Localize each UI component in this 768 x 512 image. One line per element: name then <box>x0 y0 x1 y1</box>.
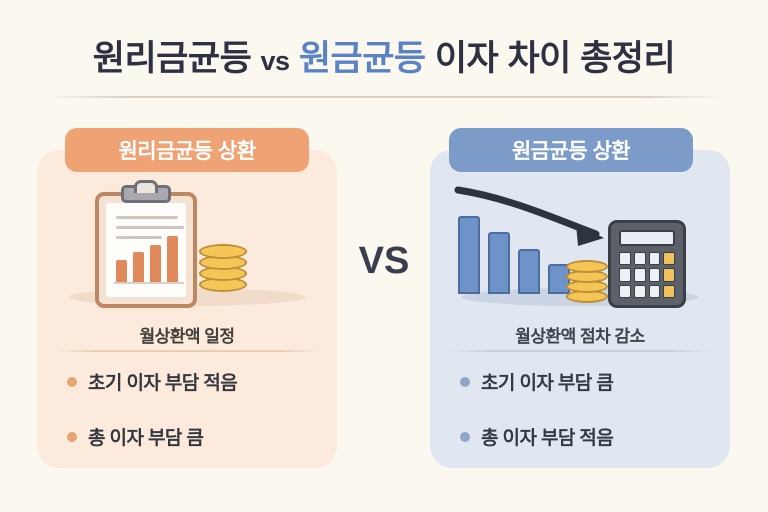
chart-bar <box>167 236 178 282</box>
list-item-label: 총 이자 부담 적음 <box>481 423 613 450</box>
coin <box>566 260 608 273</box>
paper-text-line <box>116 226 184 229</box>
list-item: 초기 이자 부담 적음 <box>67 368 317 395</box>
title-segment-accent: 원금균등 <box>299 39 426 78</box>
calculator-key <box>649 252 661 265</box>
illustration-left <box>37 182 337 312</box>
bullet-dot-icon <box>67 377 77 387</box>
coin <box>199 244 247 259</box>
card-left-caption: 월상환액 일정 <box>37 322 337 347</box>
title-segment-suffix: 이자 차이 총정리 <box>435 39 675 78</box>
calculator-key-accent <box>663 268 675 281</box>
paper-text-line <box>116 236 162 239</box>
card-left-divider <box>57 350 317 352</box>
calculator-icon <box>608 220 686 308</box>
card-left-bullet-list: 초기 이자 부담 적음 총 이자 부담 큼 <box>67 368 317 478</box>
card-right-caption: 월상환액 점차 감소 <box>430 322 730 347</box>
chart-axis <box>114 282 184 284</box>
calculator-key <box>649 268 661 281</box>
declining-arrow-icon <box>450 184 630 254</box>
title-segment-primary: 원리금균등 <box>93 39 252 78</box>
list-item-label: 초기 이자 부담 적음 <box>88 368 237 395</box>
calculator-key <box>619 252 631 265</box>
title-divider <box>45 96 723 98</box>
comparison-card-left: 월상환액 일정 초기 이자 부담 적음 총 이자 부담 큼 <box>37 150 337 468</box>
chart-bar <box>150 245 161 282</box>
list-item: 총 이자 부담 큼 <box>67 423 317 450</box>
list-item-label: 초기 이자 부담 큼 <box>481 368 613 395</box>
title-segment-vs: vs <box>261 46 290 76</box>
chart-bar <box>116 260 127 282</box>
calculator-key <box>634 252 646 265</box>
chart-bar <box>518 249 540 294</box>
list-item: 총 이자 부담 적음 <box>460 423 710 450</box>
paper-text-line <box>116 216 178 219</box>
bullet-dot-icon <box>460 432 470 442</box>
versus-label: VS <box>340 240 428 283</box>
clipboard-paper <box>106 203 186 297</box>
calculator-key <box>619 268 631 281</box>
calculator-key <box>634 268 646 281</box>
card-right-divider <box>450 350 710 352</box>
calculator-keypad <box>619 252 675 298</box>
page-title: 원리금균등 vs 원금균등 이자 차이 총정리 <box>0 30 768 81</box>
clipboard-clip-icon <box>121 185 171 203</box>
calculator-key <box>634 285 646 298</box>
calculator-key <box>649 285 661 298</box>
bullet-dot-icon <box>460 377 470 387</box>
calculator-key-accent <box>663 252 675 265</box>
chart-bar <box>133 252 144 282</box>
comparison-card-right: 월상환액 점차 감소 초기 이자 부담 큼 총 이자 부담 적음 <box>430 150 730 468</box>
calculator-display <box>619 230 675 246</box>
calculator-key-accent <box>663 285 675 298</box>
illustration-right <box>430 182 730 312</box>
card-left-header-pill: 원리금균등 상환 <box>65 128 309 172</box>
bullet-dot-icon <box>67 432 77 442</box>
calculator-key <box>619 285 631 298</box>
card-right-header-pill: 원금균등 상환 <box>449 128 693 172</box>
list-item-label: 총 이자 부담 큼 <box>88 423 203 450</box>
card-right-bullet-list: 초기 이자 부담 큼 총 이자 부담 적음 <box>460 368 710 478</box>
clipboard-icon <box>95 192 197 308</box>
list-item: 초기 이자 부담 큼 <box>460 368 710 395</box>
